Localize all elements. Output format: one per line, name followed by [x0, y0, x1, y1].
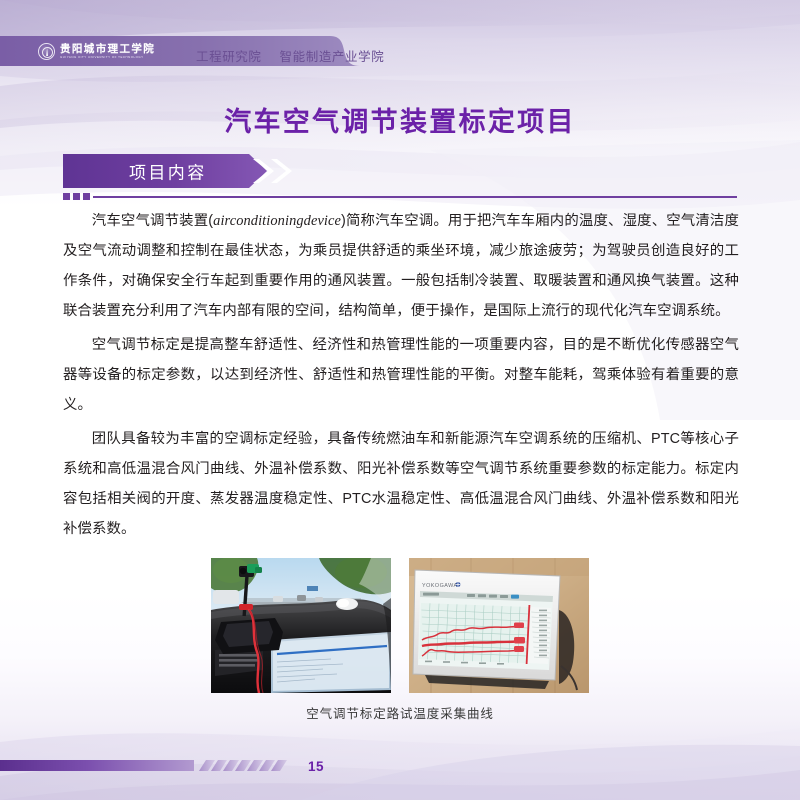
page-footer: [0, 757, 800, 800]
divider-square-3: [83, 193, 90, 200]
divider-square-2: [73, 193, 80, 200]
paragraph-1-pre: 汽车空气调节装置(: [92, 213, 213, 229]
figure-caption: 空气调节标定路试温度采集曲线: [0, 703, 800, 722]
header-navigation: 工程研究院 智能制造产业学院: [196, 46, 384, 65]
university-logo: 贵阳城市理工学院 GUIYANG CITY UNIVERSITY OF TECH…: [38, 41, 155, 62]
page-number: 15: [308, 759, 324, 774]
document-page: 贵阳城市理工学院 GUIYANG CITY UNIVERSITY OF TECH…: [0, 0, 800, 800]
nav-item-engineering-institute[interactable]: 工程研究院: [196, 46, 262, 65]
section-banner: 项目内容: [63, 154, 308, 188]
divider-square-1: [63, 193, 70, 200]
paragraph-3: 团队具备较为丰富的空调标定经验，具备传统燃油车和新能源汽车空调系统的压缩机、PT…: [63, 424, 739, 544]
page-title: 汽车空气调节装置标定项目: [0, 100, 800, 139]
logo-text-group: 贵阳城市理工学院 GUIYANG CITY UNIVERSITY OF TECH…: [60, 44, 155, 60]
paragraph-1-term: airconditioningdevice: [213, 213, 341, 229]
yokogawa-brand-label: YOKOGAWA: [422, 583, 458, 589]
section-label: 项目内容: [129, 159, 207, 184]
section-header-block: 项目内容: [63, 154, 737, 200]
logo-name-en: GUIYANG CITY UNIVERSITY OF TECHNOLOGY: [60, 56, 155, 59]
paragraph-2: 空气调节标定是提高整车舒适性、经济性和热管理性能的一项重要内容，目的是不断优化传…: [63, 330, 739, 420]
paragraph-1: 汽车空气调节装置(airconditioningdevice)简称汽车空调。用于…: [63, 206, 739, 326]
figure-row: YOKOGAWA: [0, 558, 800, 693]
section-divider: [63, 193, 737, 200]
divider-line: [93, 196, 737, 198]
article-body: 汽车空气调节装置(airconditioningdevice)简称汽车空调。用于…: [63, 206, 739, 548]
logo-name-cn: 贵阳城市理工学院: [60, 44, 155, 55]
university-seal-icon: [38, 43, 55, 60]
car-dashboard-sensor-photo: [211, 558, 391, 693]
nav-item-smart-manufacturing-college[interactable]: 智能制造产业学院: [280, 46, 385, 65]
footer-stripes: [199, 760, 287, 771]
yokogawa-recorder-photo: YOKOGAWA: [409, 558, 589, 693]
